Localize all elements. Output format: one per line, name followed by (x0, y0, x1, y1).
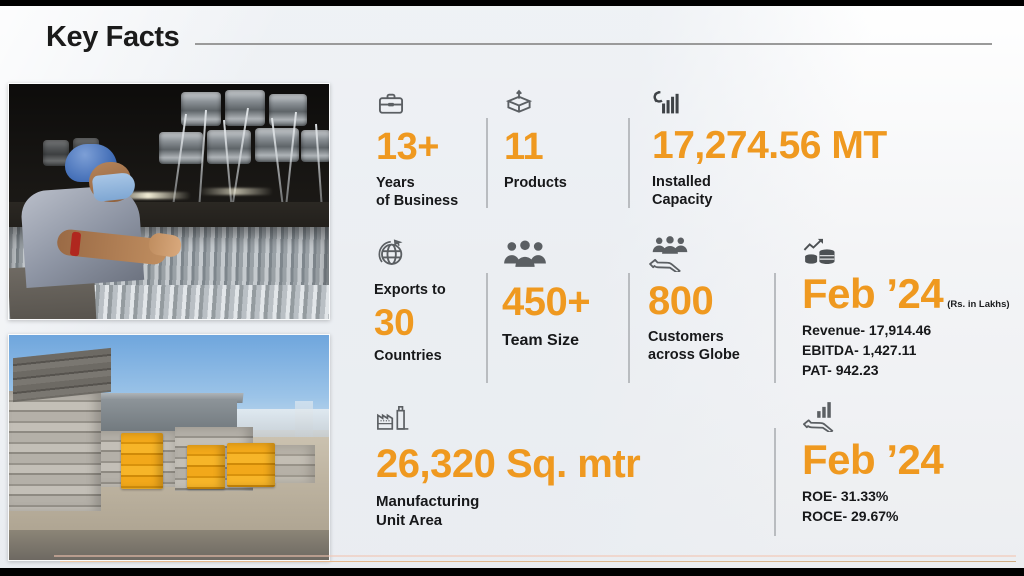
stat-exports-to-countries: Exports to 30 Countries (374, 236, 486, 366)
divider-row1-a (486, 118, 488, 208)
stat-value: Feb ’24 (802, 439, 1002, 481)
letterbox-top (0, 0, 1024, 6)
stat-line-2: ROCE- 29.67% (802, 507, 1002, 527)
briefcase-icon (376, 90, 486, 123)
stat-financials-feb-24: Feb ’24 (Rs. in Lakhs) Revenue- 17,914.4… (802, 236, 1017, 381)
stat-value: 30 (374, 304, 486, 341)
globe-plane-icon (374, 236, 486, 275)
stat-value: 26,320 Sq. mtr (376, 444, 706, 484)
stat-years-of-business: 13+ Years of Business (376, 90, 486, 211)
stat-value: 13+ (376, 128, 486, 166)
gear-bar-chart-icon (652, 90, 962, 122)
factory-icon (376, 403, 706, 438)
divider-row3-a (774, 428, 776, 536)
header-divider-rule (195, 43, 992, 45)
stat-value: 800 (648, 281, 778, 321)
stat-pre-label: Exports to (374, 282, 486, 300)
letterbox-bottom (0, 568, 1024, 576)
stat-label-line-1: Products (504, 175, 622, 193)
divider-row2-c (774, 273, 776, 383)
stat-value: 450+ (502, 282, 626, 322)
photo-panel-yard (8, 334, 330, 561)
stat-label-line-2: across Globe (648, 347, 778, 365)
hand-bar-chart-icon (802, 400, 1002, 437)
stat-line-1: ROE- 31.33% (802, 487, 1002, 507)
hand-people-icon (648, 236, 778, 277)
stat-label-line-1: Team Size (502, 331, 626, 351)
package-box-icon (504, 88, 622, 123)
key-facts-stats: 13+ Years of Business 11 Products (352, 78, 1016, 560)
stat-label-line-2: of Business (376, 193, 486, 211)
stat-customers-across-globe: 800 Customers across Globe (648, 236, 778, 365)
stat-value: Feb ’24 (802, 273, 943, 315)
coins-growth-icon (802, 236, 1017, 271)
stat-note: (Rs. in Lakhs) (947, 299, 1009, 315)
divider-row2-a (486, 273, 488, 383)
stat-line-1: Revenue- 17,914.46 (802, 321, 1017, 341)
stat-line-3: PAT- 942.23 (802, 361, 1017, 381)
page-title: Key Facts (46, 21, 179, 54)
stat-label-line-1: Manufacturing (376, 493, 706, 512)
slide-header: Key Facts (46, 16, 1004, 58)
stat-label-line-2: Capacity (652, 192, 962, 210)
stat-value: 17,274.56 MT (652, 126, 962, 165)
stat-label-line-1: Years (376, 175, 486, 193)
stat-ratios-feb-24: Feb ’24 ROE- 31.33% ROCE- 29.67% (802, 400, 1002, 527)
stat-installed-capacity: 17,274.56 MT Installed Capacity (652, 90, 962, 210)
photo-worker-production-line (8, 83, 330, 320)
stat-label-line-1: Countries (374, 348, 486, 366)
stat-value: 11 (504, 128, 622, 166)
stat-manufacturing-unit-area: 26,320 Sq. mtr Manufacturing Unit Area (376, 403, 706, 530)
stat-label-line-2: Unit Area (376, 512, 706, 531)
stat-team-size: 450+ Team Size (502, 240, 626, 351)
team-people-icon (502, 240, 626, 275)
stat-line-2: EBITDA- 1,427.11 (802, 341, 1017, 361)
stat-label-line-1: Customers (648, 329, 778, 347)
stat-label-line-1: Installed (652, 174, 962, 192)
divider-row1-b (628, 118, 630, 208)
bottom-rule (60, 561, 1016, 563)
stat-products: 11 Products (504, 88, 622, 193)
divider-row2-b (628, 273, 630, 383)
slide-root: Key Facts (0, 0, 1024, 576)
